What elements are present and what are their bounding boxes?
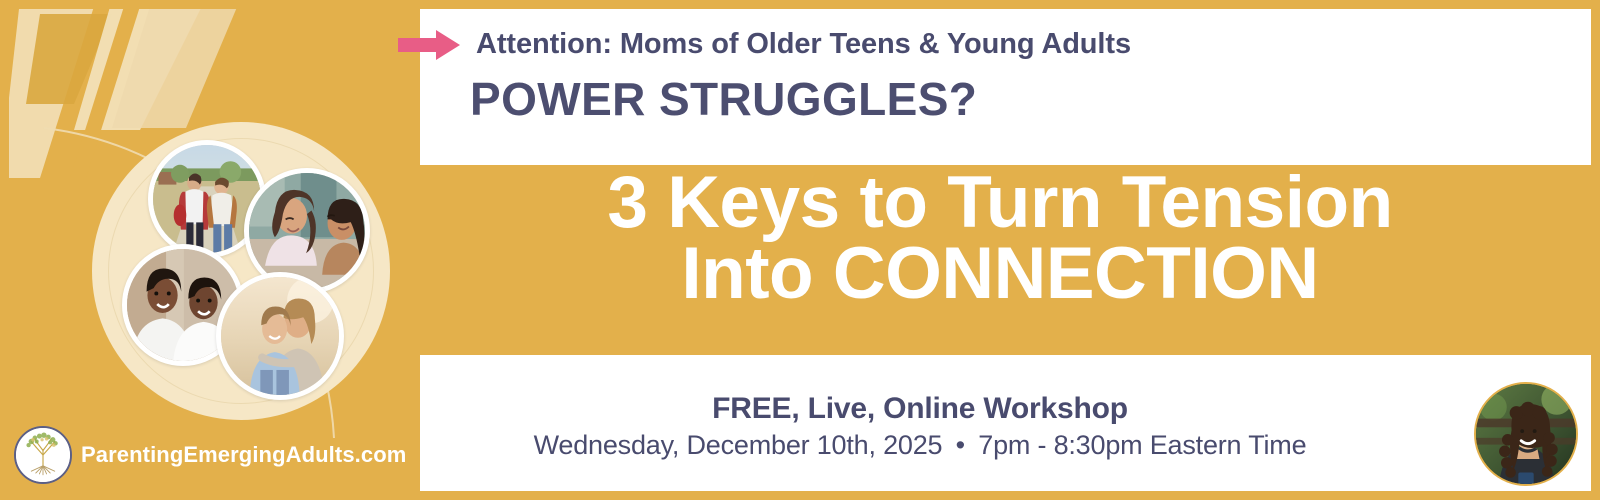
event-type-label: FREE, Live, Online Workshop [420, 392, 1420, 427]
event-datetime: Wednesday, December 10th, 2025 • 7pm - 8… [420, 430, 1420, 461]
tree-logo-icon [14, 426, 72, 484]
main-headline: 3 Keys to Turn Tension Into CONNECTION [420, 168, 1580, 310]
event-details: FREE, Live, Online Workshop Wednesday, D… [420, 392, 1420, 461]
right-arrow-icon [398, 30, 460, 60]
attention-text: Attention: Moms of Older Teens & Young A… [476, 28, 1131, 61]
hook-headline: POWER STRUGGLES? [470, 72, 977, 126]
event-date: Wednesday, December 10th, 2025 [534, 430, 943, 460]
event-time: 7pm - 8:30pm Eastern Time [978, 430, 1306, 460]
collage-photo-4 [216, 272, 344, 400]
brand-name: ParentingEmergingAdults.com [81, 442, 406, 468]
main-headline-line-2: Into CONNECTION [420, 239, 1580, 310]
separator-dot: • [950, 430, 971, 460]
main-headline-line-1: 3 Keys to Turn Tension [607, 162, 1392, 243]
speaker-headshot [1474, 382, 1578, 486]
attention-row: Attention: Moms of Older Teens & Young A… [398, 28, 1131, 61]
webinar-promo-banner: Attention: Moms of Older Teens & Young A… [0, 0, 1600, 500]
brand-logo[interactable]: ParentingEmergingAdults.com [14, 426, 406, 484]
